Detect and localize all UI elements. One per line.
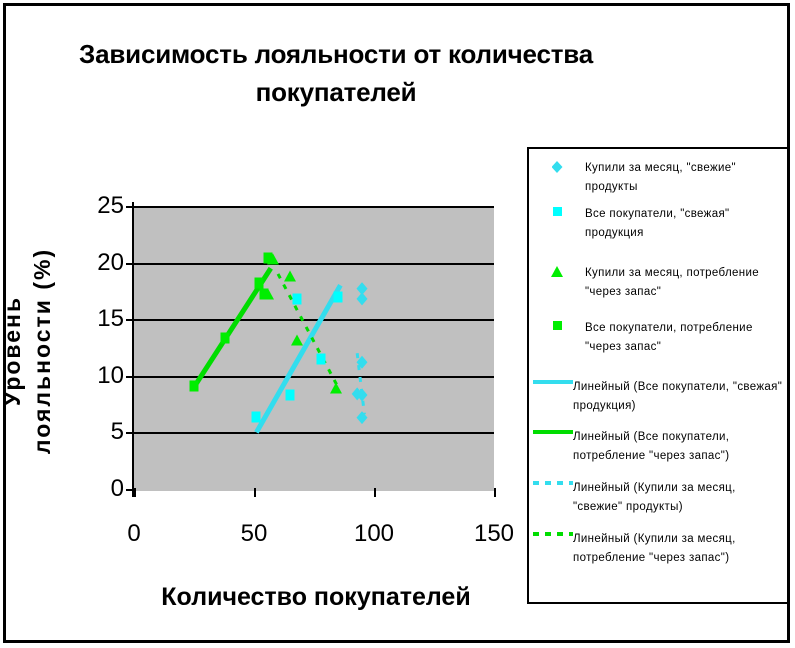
chart-legend: Купили за месяц, "свежие" продуктыВсе по…	[527, 147, 789, 604]
chart-frame: Зависимость лояльности от количества пок…	[3, 3, 790, 643]
legend-label: Купили за месяц, потребление "через запа…	[585, 264, 787, 302]
y-axis-tick-labels: 0510152025	[66, 206, 124, 489]
legend-key	[529, 205, 585, 216]
data-point	[264, 253, 273, 264]
data-point	[259, 289, 268, 300]
x-tick-label: 0	[127, 520, 140, 548]
legend-label: Линейный (Купили за месяц, "свежие" прод…	[573, 479, 787, 517]
y-tick-label: 5	[111, 418, 124, 446]
x-tick-label: 150	[474, 520, 514, 548]
data-point	[291, 334, 303, 345]
x-tick-mark	[374, 488, 376, 497]
legend-label: Линейный (Все покупатели, "свежая" проду…	[573, 378, 787, 416]
y-tick-mark	[126, 206, 134, 208]
y-tick-mark	[126, 432, 134, 434]
y-tick-label: 10	[97, 362, 124, 390]
y-tick-label: 15	[97, 305, 124, 333]
x-tick-mark	[254, 488, 256, 497]
y-axis-title-line1: Уровень	[0, 191, 28, 511]
legend-item[interactable]: Линейный (Все покупатели, "свежая" проду…	[529, 378, 787, 416]
x-tick-label: 50	[241, 520, 268, 548]
trendline	[256, 285, 340, 432]
x-tick-mark	[494, 488, 496, 497]
legend-square-icon	[553, 207, 562, 216]
legend-key	[529, 264, 585, 277]
y-tick-mark	[126, 489, 134, 491]
chart-title-line2: покупателей	[76, 74, 596, 112]
legend-square-icon	[553, 321, 562, 330]
data-point	[286, 390, 295, 401]
legend-key	[529, 159, 585, 173]
trendlines-layer	[134, 206, 494, 489]
x-axis-title: Количество покупателей	[106, 583, 526, 612]
legend-solid-line-icon	[533, 380, 573, 384]
data-point	[317, 353, 326, 364]
chart-title-line1: Зависимость лояльности от количества	[76, 36, 596, 74]
legend-dashed-line-icon	[533, 532, 573, 536]
y-tick-label: 25	[97, 192, 124, 220]
legend-item[interactable]: Купили за месяц, потребление "через запа…	[529, 264, 787, 302]
legend-item[interactable]: Линейный (Купили за месяц, потребление "…	[529, 530, 787, 568]
x-tick-label: 100	[354, 520, 394, 548]
data-point	[252, 411, 261, 422]
y-tick-mark	[126, 263, 134, 265]
data-point	[284, 271, 296, 282]
legend-label: Линейный (Купили за месяц, потребление "…	[573, 530, 787, 568]
y-tick-mark	[126, 319, 134, 321]
legend-key	[529, 530, 573, 536]
legend-dashed-line-icon	[533, 481, 573, 485]
x-tick-mark	[134, 488, 136, 497]
legend-item[interactable]: Линейный (Все покупатели, потребление "ч…	[529, 428, 787, 466]
legend-key	[529, 479, 573, 485]
data-point	[330, 383, 342, 394]
legend-triangle-icon	[551, 266, 563, 277]
chart-title: Зависимость лояльности от количества пок…	[76, 36, 596, 111]
trendline	[278, 274, 338, 387]
plot-region	[134, 206, 494, 489]
legend-label: Все покупатели, "свежая" продукция	[585, 205, 787, 243]
data-point	[334, 291, 343, 302]
data-point	[221, 333, 230, 344]
legend-label: Линейный (Все покупатели, потребление "ч…	[573, 428, 787, 466]
legend-item[interactable]: Все покупатели, потребление "через запас…	[529, 319, 787, 357]
legend-label: Купили за месяц, "свежие" продукты	[585, 159, 787, 197]
legend-key	[529, 319, 585, 330]
y-tick-label: 20	[97, 249, 124, 277]
legend-key	[529, 428, 573, 434]
legend-key	[529, 378, 573, 384]
y-tick-label: 0	[111, 475, 124, 503]
data-point	[190, 380, 199, 391]
y-axis-title: Уровень лояльности (%)	[0, 191, 64, 511]
data-point	[254, 277, 263, 288]
x-axis-tick-labels: 050100150	[134, 520, 494, 554]
legend-item[interactable]: Купили за месяц, "свежие" продукты	[529, 159, 787, 197]
legend-solid-line-icon	[533, 430, 573, 434]
legend-label: Все покупатели, потребление "через запас…	[585, 319, 787, 357]
y-axis-title-line2: лояльности (%)	[28, 191, 58, 511]
legend-item[interactable]: Линейный (Купили за месяц, "свежие" прод…	[529, 479, 787, 517]
legend-diamond-icon	[552, 161, 563, 173]
data-point	[293, 293, 302, 304]
y-tick-mark	[126, 376, 134, 378]
legend-item[interactable]: Все покупатели, "свежая" продукция	[529, 205, 787, 243]
